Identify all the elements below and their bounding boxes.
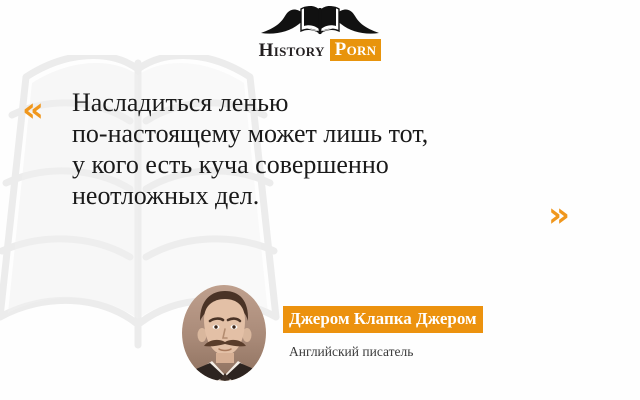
winged-open-book-icon	[259, 4, 381, 38]
quote-line: неотложных дел.	[72, 180, 562, 211]
logo-wordmark: History Porn	[259, 39, 382, 61]
author-role: Английский писатель	[289, 344, 483, 360]
site-logo[interactable]: History Porn	[0, 4, 640, 66]
quote-text: Насладиться ленью по-настоящему может ли…	[72, 87, 562, 211]
quote-line: Насладиться ленью	[72, 87, 562, 118]
portrait-photo-avatar-icon	[182, 285, 266, 381]
quote-line: по-настоящему может лишь тот,	[72, 118, 562, 149]
quote-open-guillemet-icon: «	[22, 93, 40, 127]
author-block: Джером Клапка Джером Английский писатель	[182, 285, 483, 381]
logo-word-history: History	[259, 41, 325, 60]
quote-card: History Porn « » Насладиться ленью по-на…	[0, 0, 640, 400]
quote-line: у кого есть куча совершенно	[72, 149, 562, 180]
author-name: Джером Клапка Джером	[283, 306, 483, 332]
author-info: Джером Клапка Джером Английский писатель	[283, 306, 483, 359]
logo-word-porn: Porn	[330, 39, 382, 61]
avatar	[182, 285, 266, 381]
